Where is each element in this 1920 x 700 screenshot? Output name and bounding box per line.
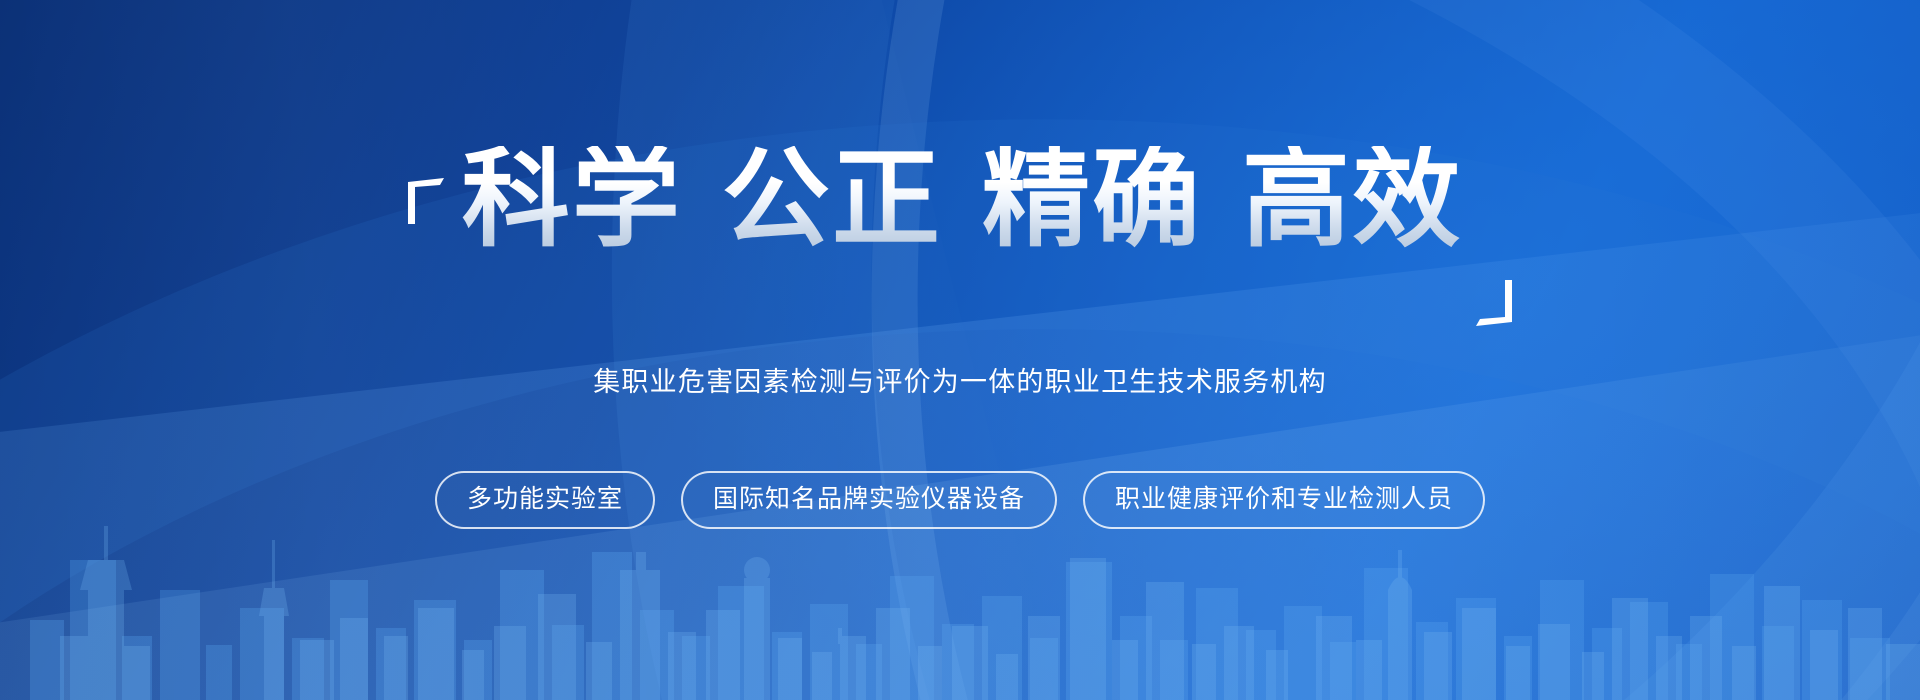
feature-pill-equipment[interactable]: 国际知名品牌实验仪器设备 bbox=[681, 471, 1057, 529]
bracket-open-icon bbox=[406, 178, 446, 226]
banner-subtitle: 集职业危害因素检测与评价为一体的职业卫生技术服务机构 bbox=[593, 360, 1327, 399]
feature-pill-lab[interactable]: 多功能实验室 bbox=[435, 471, 655, 529]
bracket-close-icon bbox=[1474, 278, 1514, 326]
feature-pill-list: 多功能实验室 国际知名品牌实验仪器设备 职业健康评价和专业检测人员 bbox=[435, 471, 1485, 529]
headline-row: 科学 公正 精确 高效 bbox=[406, 146, 1515, 326]
promo-banner: 科学 公正 精确 高效 集职业危害因素检测与评价为一体的职业卫生技术服务机构 多… bbox=[0, 0, 1920, 700]
page-title: 科学 公正 精确 高效 bbox=[456, 146, 1469, 254]
banner-content: 科学 公正 精确 高效 集职业危害因素检测与评价为一体的职业卫生技术服务机构 多… bbox=[0, 0, 1920, 700]
feature-pill-staff[interactable]: 职业健康评价和专业检测人员 bbox=[1083, 471, 1485, 529]
